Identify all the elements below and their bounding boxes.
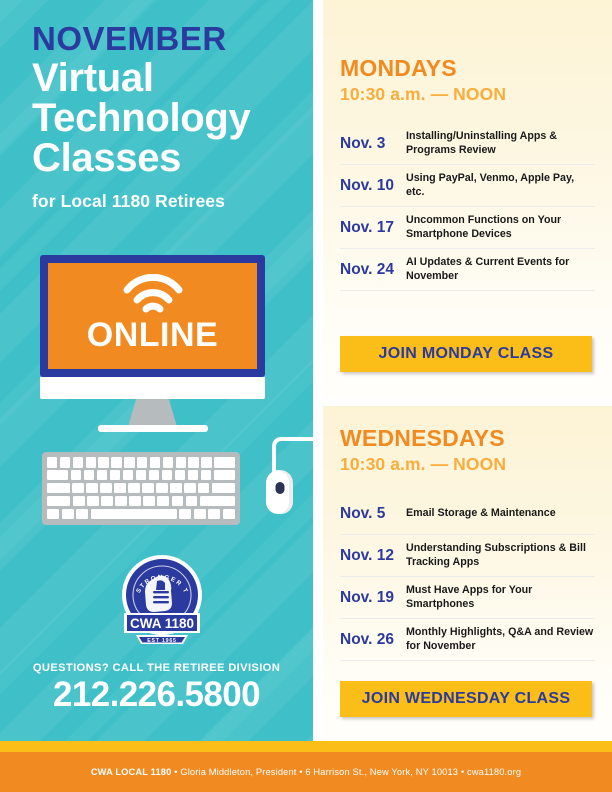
phone-number[interactable]: 212.226.5800 bbox=[0, 675, 313, 715]
table-row: Nov. 24 AI Updates & Current Events for … bbox=[340, 249, 595, 291]
row-description: AI Updates & Current Events for November bbox=[406, 256, 595, 283]
row-description: Email Storage & Maintenance bbox=[406, 507, 556, 521]
table-row: Nov. 19 Must Have Apps for Your Smartpho… bbox=[340, 577, 595, 619]
footer-details: • Gloria Middleton, President • 6 Harris… bbox=[171, 767, 521, 777]
mouse-scroll-button bbox=[275, 482, 284, 494]
row-date: Nov. 24 bbox=[340, 261, 406, 279]
table-row: Nov. 12 Understanding Subscriptions & Bi… bbox=[340, 535, 595, 577]
keyboard-row bbox=[47, 496, 235, 507]
row-date: Nov. 12 bbox=[340, 547, 406, 565]
keyboard-row bbox=[47, 483, 235, 494]
subtitle: for Local 1180 Retirees bbox=[32, 191, 307, 212]
row-description: Installing/Uninstalling Apps & Programs … bbox=[406, 130, 595, 157]
row-date: Nov. 26 bbox=[340, 631, 406, 649]
monday-time: 10:30 a.m. — NOON bbox=[340, 84, 506, 105]
table-row: Nov. 10 Using PayPal, Venmo, Apple Pay, … bbox=[340, 165, 595, 207]
row-description: Using PayPal, Venmo, Apple Pay, etc. bbox=[406, 172, 595, 199]
logo-name: CWA 1180 bbox=[130, 616, 194, 631]
wednesday-schedule-table: Nov. 5 Email Storage & Maintenance Nov. … bbox=[340, 493, 595, 661]
keyboard-row bbox=[47, 509, 235, 520]
row-date: Nov. 17 bbox=[340, 219, 406, 237]
online-label: ONLINE bbox=[48, 318, 257, 352]
footer-text: CWA LOCAL 1180 • Gloria Middleton, Presi… bbox=[91, 767, 521, 777]
wednesday-panel: WEDNESDAYS 10:30 a.m. — NOON Nov. 5 Emai… bbox=[323, 406, 612, 741]
monitor-illustration: ONLINE bbox=[40, 255, 265, 432]
footer-org: CWA LOCAL 1180 bbox=[91, 767, 172, 777]
title-line-1: Virtual bbox=[32, 58, 307, 98]
row-date: Nov. 10 bbox=[340, 177, 406, 195]
wifi-icon bbox=[122, 274, 184, 319]
wednesday-time: 10:30 a.m. — NOON bbox=[340, 454, 506, 475]
questions-label: QUESTIONS? CALL THE RETIREE DIVISION bbox=[0, 662, 313, 674]
row-date: Nov. 19 bbox=[340, 589, 406, 607]
monitor-stand-base bbox=[98, 425, 208, 432]
table-row: Nov. 17 Uncommon Functions on Your Smart… bbox=[340, 207, 595, 249]
left-hero-panel: NOVEMBER Virtual Technology Classes for … bbox=[0, 0, 313, 741]
monday-schedule-table: Nov. 3 Installing/Uninstalling Apps & Pr… bbox=[340, 123, 595, 291]
row-description: Must Have Apps for Your Smartphones bbox=[406, 584, 595, 611]
monitor-chin bbox=[40, 377, 265, 399]
cwa-1180-logo: STRONGER TOGETHER CWA 1180 bbox=[112, 551, 212, 653]
monitor-screen-content: ONLINE bbox=[48, 263, 257, 369]
keyboard-row bbox=[47, 457, 235, 468]
keyboard-row bbox=[47, 470, 235, 481]
row-description: Monthly Highlights, Q&A and Review for N… bbox=[406, 626, 595, 653]
monitor-stand-neck bbox=[129, 399, 177, 425]
join-wednesday-class-button[interactable]: JOIN WEDNESDAY CLASS bbox=[340, 681, 592, 717]
footer-bar: CWA LOCAL 1180 • Gloria Middleton, Presi… bbox=[0, 752, 612, 792]
footer-accent-strip bbox=[0, 741, 612, 752]
table-row: Nov. 3 Installing/Uninstalling Apps & Pr… bbox=[340, 123, 595, 165]
join-monday-class-button[interactable]: JOIN MONDAY CLASS bbox=[340, 336, 592, 372]
title-line-2: Technology bbox=[32, 98, 307, 138]
title-line-3: Classes bbox=[32, 138, 307, 178]
mouse-illustration bbox=[266, 470, 293, 514]
keyboard-illustration bbox=[42, 452, 240, 525]
logo-established: EST 1965 bbox=[147, 638, 176, 644]
row-description: Understanding Subscriptions & Bill Track… bbox=[406, 542, 595, 569]
row-date: Nov. 5 bbox=[340, 505, 406, 523]
flyer-page: NOVEMBER Virtual Technology Classes for … bbox=[0, 0, 612, 792]
row-description: Uncommon Functions on Your Smartphone De… bbox=[406, 214, 595, 241]
month-heading: NOVEMBER bbox=[32, 22, 307, 57]
table-row: Nov. 5 Email Storage & Maintenance bbox=[340, 493, 595, 535]
row-date: Nov. 3 bbox=[340, 135, 406, 153]
monitor-screen: ONLINE bbox=[40, 255, 265, 377]
monday-day-title: MONDAYS bbox=[340, 57, 457, 80]
title-block: NOVEMBER Virtual Technology Classes for … bbox=[32, 22, 307, 212]
monday-panel: MONDAYS 10:30 a.m. — NOON Nov. 3 Install… bbox=[323, 0, 612, 398]
wednesday-day-title: WEDNESDAYS bbox=[340, 427, 505, 450]
table-row: Nov. 26 Monthly Highlights, Q&A and Revi… bbox=[340, 619, 595, 661]
